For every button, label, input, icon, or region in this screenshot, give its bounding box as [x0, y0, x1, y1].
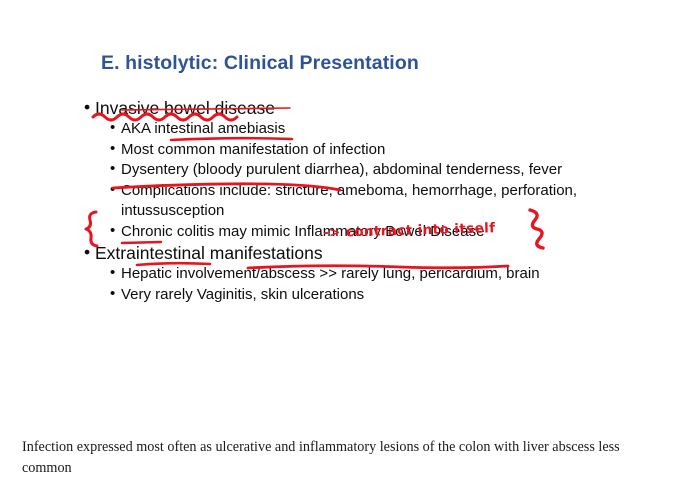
list-item: • Complications include: stricture, ameb… — [84, 181, 584, 222]
bullet-glyph: • — [110, 263, 115, 284]
list-item-text: Extraintestinal manifestations — [95, 243, 323, 263]
slide-canvas: E. histolytic: Clinical Presentation • I… — [0, 0, 685, 490]
list-item-text: Invasive bowel disease — [95, 98, 275, 118]
list-item-text: AKA intestinal amebiasis — [121, 120, 285, 137]
bullet-glyph: • — [110, 180, 115, 201]
bullet-glyph: • — [110, 139, 115, 160]
list-item: • Very rarely Vaginitis, skin ulceration… — [84, 285, 584, 306]
list-item-text: Complications include: stricture, amebom… — [121, 182, 581, 220]
list-item-text: Most common manifestation of infection — [121, 141, 385, 158]
list-item-text: Dysentery (bloody purulent diarrhea), ab… — [121, 161, 562, 178]
list-item-text: Very rarely Vaginitis, skin ulcerations — [121, 286, 364, 303]
bullet-glyph: • — [110, 221, 115, 242]
bullet-glyph: • — [84, 241, 90, 263]
slide-body-outline: • Invasive bowel disease • AKA intestina… — [84, 97, 584, 305]
list-item: • Most common manifestation of infection — [84, 140, 584, 161]
page-title: E. histolytic: Clinical Presentation — [101, 52, 419, 75]
list-item: • Invasive bowel disease — [84, 97, 584, 119]
bullet-glyph: • — [110, 159, 115, 180]
list-item: • Dysentery (bloody purulent diarrhea), … — [84, 160, 584, 181]
list-item: • Hepatic involvement/abscess >> rarely … — [84, 264, 584, 285]
list-item: • Extraintestinal manifestations — [84, 242, 584, 264]
bullet-glyph: • — [110, 118, 115, 139]
bullet-glyph: • — [110, 284, 115, 305]
footnote-text: Infection expressed most often as ulcera… — [22, 437, 642, 479]
bullet-glyph: • — [84, 96, 90, 118]
list-item: • AKA intestinal amebiasis — [84, 119, 584, 140]
list-item-text: Hepatic involvement/abscess >> rarely lu… — [121, 265, 540, 282]
